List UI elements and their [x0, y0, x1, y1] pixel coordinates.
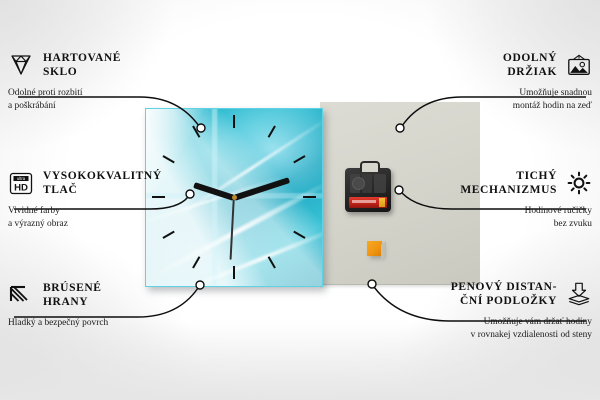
gear-icon: [566, 170, 592, 196]
feature-description: Umožňuje vám držať hodinyv rovnakej vzdi…: [357, 316, 592, 343]
mechanism-dial: [352, 177, 365, 190]
feature-tempered-glass[interactable]: HARTOVANÉSKLO Odolné proti rozbitía pošk…: [8, 48, 193, 114]
feature-durable-hanger[interactable]: ODOLNÝDRŽIAK Umožňuje snadnoumontáž hodi…: [407, 48, 592, 114]
battery-label: [352, 200, 376, 203]
ultra-hd-badge-icon: ultra HD: [8, 170, 34, 196]
feature-silent-mechanism[interactable]: TICHÝMECHANIZMUS Hodinové ručičkybez zvu…: [397, 166, 592, 232]
clock-tick: [303, 196, 316, 198]
mechanism-hanger: [360, 161, 380, 172]
diamond-icon: [8, 52, 34, 78]
feature-title: ODOLNÝDRŽIAK: [503, 51, 557, 80]
clock-center-pin: [232, 195, 237, 200]
feature-description: Umožňuje snadnoumontáž hodin na zeď: [407, 87, 592, 114]
feature-title: BRÚSENÉHRANY: [43, 281, 102, 310]
svg-text:HD: HD: [14, 182, 28, 193]
feature-description: Odolné proti rozbitía poškrábání: [8, 87, 193, 114]
picture-frame-icon: [566, 52, 592, 78]
feature-description: Hladký a bezpečný povrch: [8, 317, 193, 330]
clock-tick: [233, 266, 235, 279]
feature-description: Vividné farbya výrazný obraz: [8, 205, 193, 232]
feature-title: HARTOVANÉSKLO: [43, 51, 121, 80]
feature-title: VYSOKOKVALITNÝTLAČ: [43, 169, 162, 198]
feature-polished-edges[interactable]: BRÚSENÉHRANY Hladký a bezpečný povrch: [8, 278, 193, 330]
infographic-canvas: HARTOVANÉSKLO Odolné proti rozbitía pošk…: [0, 0, 600, 400]
clock-tick: [233, 115, 235, 128]
feature-high-quality-print[interactable]: ultra HD VYSOKOKVALITNÝTLAČ Vividné farb…: [8, 166, 193, 232]
stacked-arrow-down-icon: [566, 281, 592, 307]
clock-mechanism: [345, 168, 391, 212]
foam-spacer-pad: [367, 241, 382, 256]
diagonal-lines-icon: [8, 282, 34, 308]
feature-description: Hodinové ručičkybez zvuku: [397, 205, 592, 232]
feature-foam-spacers[interactable]: PENOVÝ DISTAN-ČNÍ PODLOŽKY Umožňuje vám …: [357, 277, 592, 343]
feature-title: PENOVÝ DISTAN-ČNÍ PODLOŽKY: [451, 280, 557, 309]
svg-text:ultra: ultra: [17, 176, 26, 181]
feature-title: TICHÝMECHANIZMUS: [460, 169, 557, 198]
mechanism-battery: [349, 197, 387, 208]
